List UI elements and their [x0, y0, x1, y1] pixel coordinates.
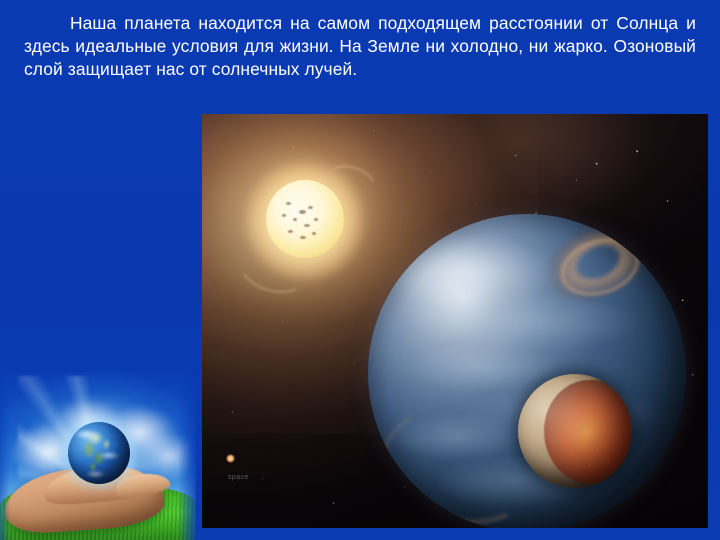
- sunspot: [286, 202, 291, 205]
- space-illustration: space: [202, 114, 708, 528]
- presentation-slide: Наша планета находится на самом подходящ…: [0, 0, 720, 540]
- sunspot: [293, 218, 297, 221]
- sunspot: [312, 232, 316, 235]
- planet-terminator: [368, 214, 686, 528]
- slide-body-text: Наша планета находится на самом подходящ…: [24, 12, 696, 81]
- left-edge-blend: [0, 372, 10, 540]
- blue-planet: [368, 214, 686, 528]
- right-edge-blend: [178, 372, 198, 540]
- earth-in-hand-illustration: [0, 372, 196, 540]
- sunspot: [308, 206, 313, 209]
- body-paragraph: Наша планета находится на самом подходящ…: [24, 12, 696, 81]
- photo-watermark: space: [228, 474, 249, 481]
- sunspot: [282, 214, 286, 217]
- moon-terminator: [518, 374, 632, 488]
- earth-terminator: [68, 422, 130, 484]
- earth-globe: [68, 422, 130, 484]
- sunspot: [304, 224, 310, 227]
- sunspot: [288, 230, 293, 233]
- sunspot: [299, 210, 306, 214]
- corner-star: [226, 454, 235, 463]
- lava-moon: [518, 374, 632, 488]
- sunspot: [300, 236, 306, 239]
- sunspot: [314, 218, 318, 221]
